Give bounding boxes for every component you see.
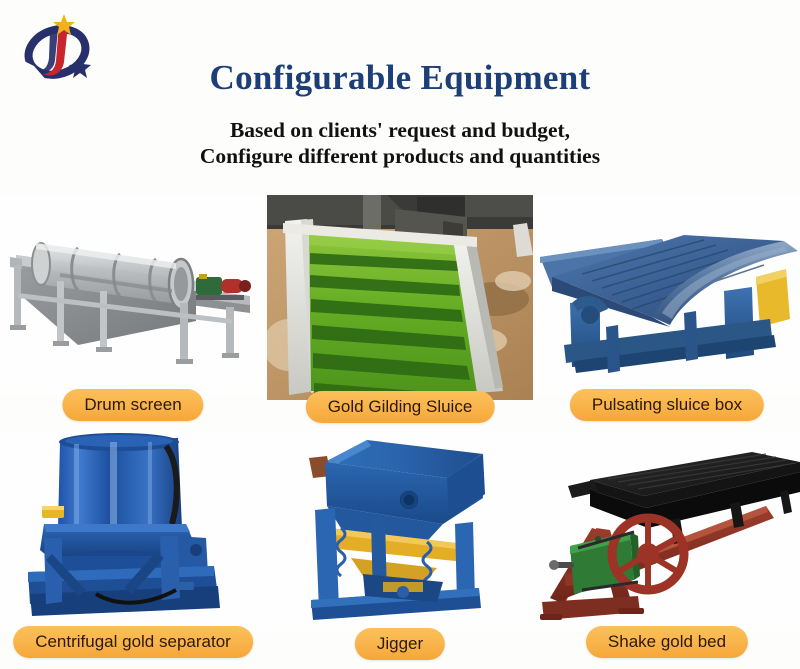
shake-gold-bed-photo (534, 432, 800, 632)
page-subtitle: Based on clients' request and budget, Co… (0, 117, 800, 169)
jigger-photo (267, 432, 533, 632)
product-grid: Drum screen (0, 195, 800, 669)
equipment-catalog-page: Configurable Equipment Based on clients'… (0, 0, 800, 669)
product-card-pulsating-sluice-box[interactable]: Pulsating sluice box (534, 195, 800, 432)
product-label-pill[interactable]: Shake gold bed (586, 626, 748, 658)
product-card-drum-screen[interactable]: Drum screen (0, 195, 266, 432)
product-label-pill[interactable]: Pulsating sluice box (570, 389, 764, 421)
product-label-pill[interactable]: Centrifugal gold separator (13, 626, 253, 658)
product-label-pill[interactable]: Gold Gilding Sluice (306, 391, 495, 423)
centrifugal-gold-separator-photo (0, 432, 266, 632)
pulsating-sluice-box-photo (534, 195, 800, 395)
gold-gilding-sluice-photo (267, 195, 533, 400)
product-label-pill[interactable]: Jigger (355, 628, 445, 660)
product-label-pill[interactable]: Drum screen (62, 389, 203, 421)
product-card-shake-gold-bed[interactable]: Shake gold bed (534, 432, 800, 669)
subtitle-line-1: Based on clients' request and budget, (0, 117, 800, 143)
product-card-gold-gilding-sluice[interactable]: Gold Gilding Sluice (267, 195, 533, 432)
page-title: Configurable Equipment (0, 58, 800, 98)
drum-screen-photo (0, 195, 266, 395)
subtitle-line-2: Configure different products and quantit… (0, 143, 800, 169)
product-card-jigger[interactable]: Jigger (267, 432, 533, 669)
product-card-centrifugal-gold-separator[interactable]: Centrifugal gold separator (0, 432, 266, 669)
